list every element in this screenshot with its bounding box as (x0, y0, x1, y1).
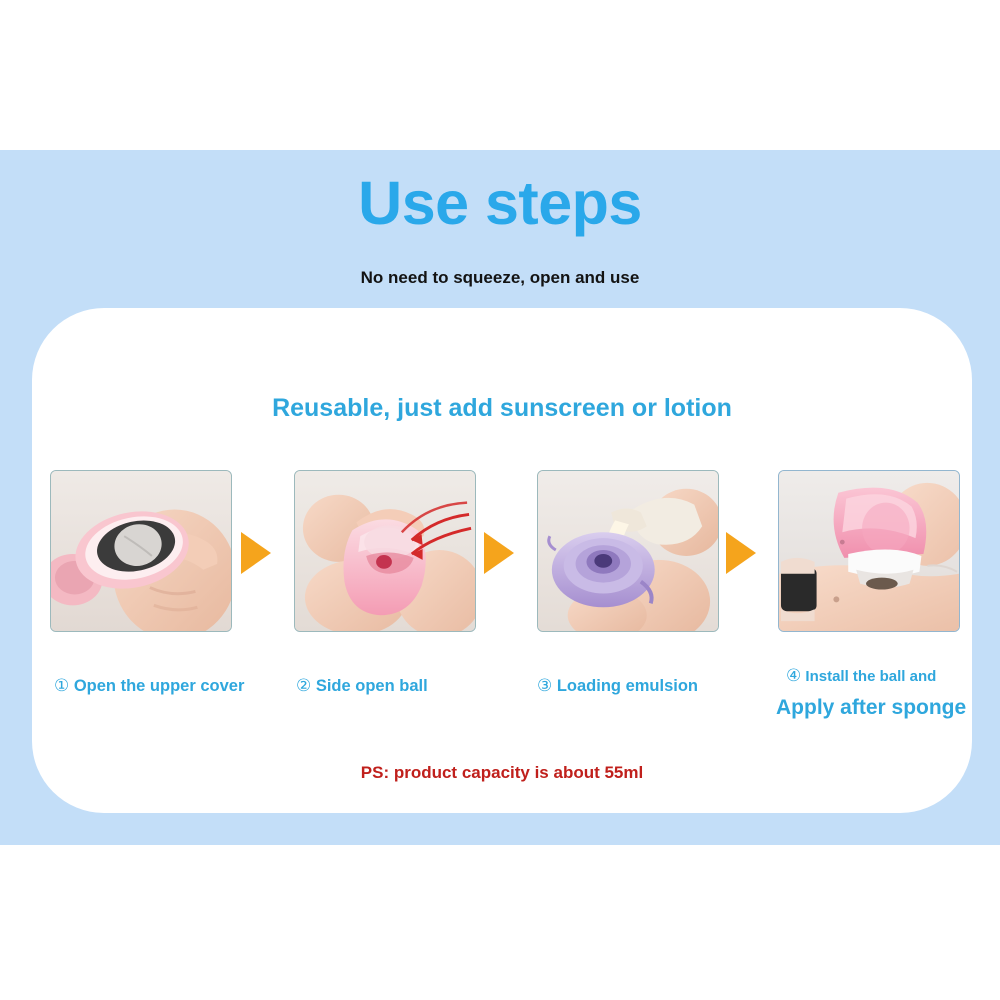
arrow-1-icon (241, 532, 271, 574)
step-4-photo (778, 470, 960, 632)
card-heading: Reusable, just add sunscreen or lotion (32, 394, 972, 423)
step-3-number: ③ (537, 676, 552, 695)
step-2-caption-text: Side open ball (316, 677, 428, 695)
page-subtitle: No need to squeeze, open and use (0, 268, 1000, 288)
page-title: Use steps (0, 173, 1000, 234)
step-3-caption-text: Loading emulsion (557, 677, 698, 695)
step-2-number: ② (296, 676, 311, 695)
arrow-2-icon (484, 532, 514, 574)
step-3-caption: ③ Loading emulsion (537, 676, 698, 696)
step-4-caption: ④ Install the ball and (786, 666, 936, 686)
step-3-photo (537, 470, 719, 632)
step-1-number: ① (54, 676, 69, 695)
step-4-caption-text: Install the ball and (805, 668, 936, 685)
applying-lotion-to-forearm-illustration (779, 471, 959, 631)
step-1 (50, 470, 232, 632)
hand-holding-dispenser-cover-open-illustration (51, 471, 231, 631)
step-4 (778, 470, 960, 632)
step-1-photo (50, 470, 232, 632)
step-4-caption-line2: Apply after sponge (776, 696, 966, 720)
steps-row (32, 470, 972, 645)
hands-opening-ball-with-red-arrows-illustration (295, 471, 475, 631)
arrow-3-icon (726, 532, 756, 574)
step-2-caption: ② Side open ball (296, 676, 428, 696)
pouring-lotion-into-purple-dispenser-illustration (538, 471, 718, 631)
capacity-footnote: PS: product capacity is about 55ml (32, 763, 972, 783)
step-4-number: ④ (786, 666, 801, 685)
step-2 (294, 470, 476, 632)
step-1-caption-text: Open the upper cover (74, 677, 245, 695)
infographic-page: Use steps No need to squeeze, open and u… (0, 0, 1000, 1000)
step-3 (537, 470, 719, 632)
step-2-photo (294, 470, 476, 632)
steps-card: Reusable, just add sunscreen or lotion (32, 308, 972, 813)
step-1-caption: ① Open the upper cover (54, 676, 244, 696)
